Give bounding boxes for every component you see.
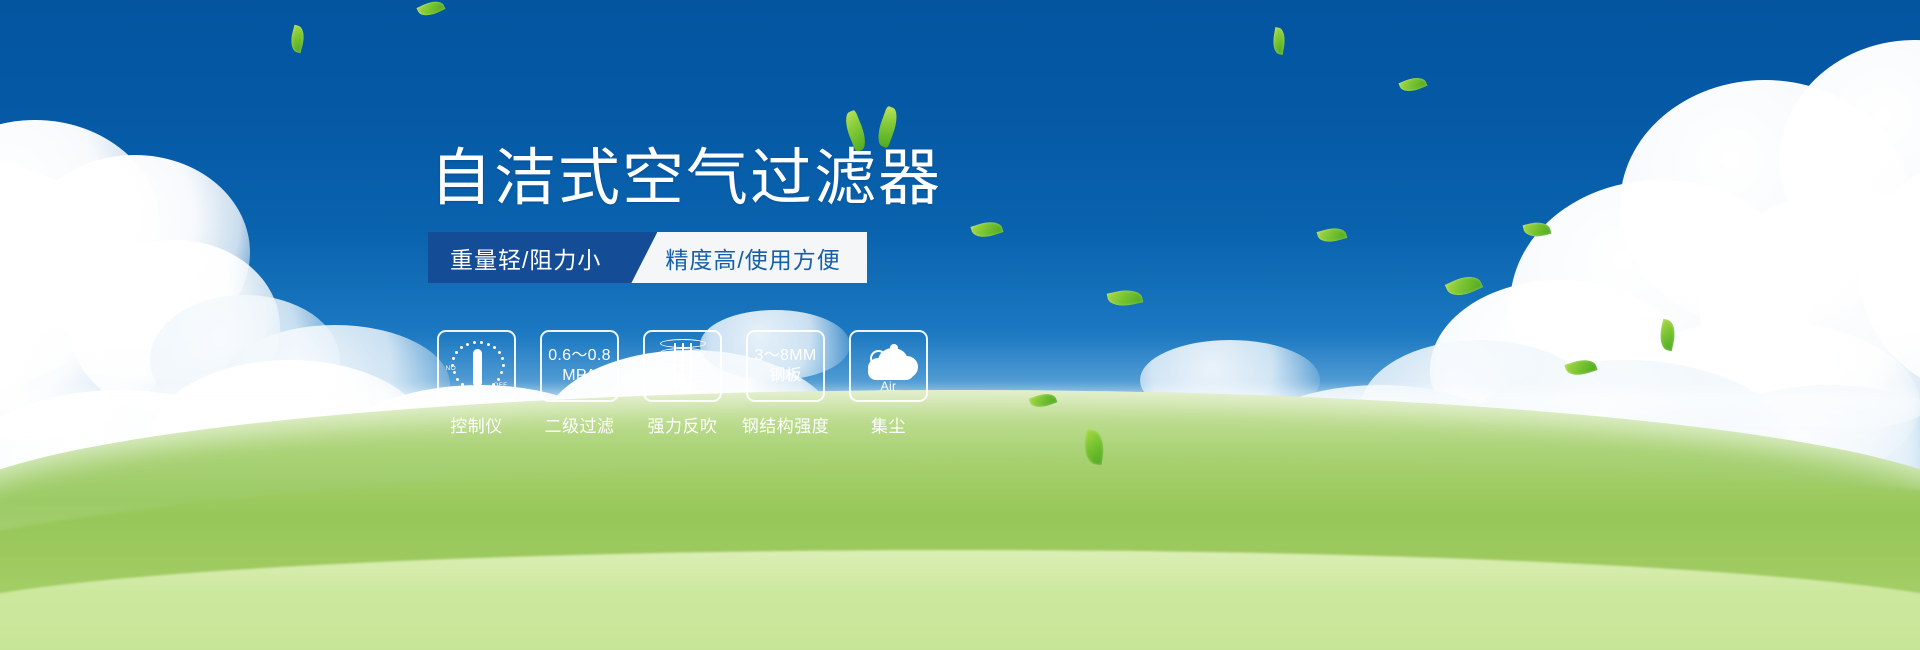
hero-banner: 自洁式空气过滤器 重量轻/阻力小 精度高/使用方便	[0, 0, 1920, 650]
feature-item-dust-collection[interactable]: Air 集尘	[849, 330, 928, 437]
banner-content: 自洁式空气过滤器 重量轻/阻力小 精度高/使用方便	[0, 0, 1920, 650]
tab-lightweight-lowresistance[interactable]: 重量轻/阻力小	[428, 232, 631, 283]
feature-caption: 钢结构强度	[742, 412, 830, 437]
air-cloud-icon: Air	[860, 340, 918, 392]
feature-item-strong-backblow[interactable]: 强力反吹	[643, 330, 722, 437]
feature-icon-box: NO OFF	[437, 330, 516, 402]
feature-caption: 二级过滤	[545, 412, 615, 437]
feature-icon-box	[643, 330, 722, 402]
pressure-text-icon: 0.6～0.8 MPA	[548, 346, 611, 385]
dial-label-off: OFF	[493, 382, 507, 389]
control-dial-icon: NO OFF	[446, 338, 508, 394]
dial-needle	[473, 349, 482, 387]
coil-spring-icon	[660, 339, 706, 393]
steel-plate-icon: 3～8MM 钢板	[755, 346, 817, 385]
page-title: 自洁式空气过滤器	[430, 148, 942, 210]
feature-caption: 控制仪	[450, 412, 503, 437]
feature-item-controller[interactable]: NO OFF 控制仪	[437, 330, 516, 437]
feature-list: NO OFF 控制仪 0.6～0.8 MPA 二级过滤	[437, 330, 928, 437]
feature-item-secondary-filter[interactable]: 0.6～0.8 MPA 二级过滤	[540, 330, 619, 437]
feature-icon-box: Air	[849, 330, 928, 402]
tab-precision-easyuse[interactable]: 精度高/使用方便	[657, 232, 866, 283]
feature-icon-box: 3～8MM 钢板	[746, 330, 825, 402]
feature-icon-box: 0.6～0.8 MPA	[540, 330, 619, 402]
feature-caption: 强力反吹	[648, 412, 718, 437]
air-label: Air	[860, 379, 918, 393]
dial-label-on: NO	[446, 365, 457, 372]
feature-caption: 集尘	[871, 412, 906, 437]
subtitle-tabs: 重量轻/阻力小 精度高/使用方便	[428, 232, 867, 283]
tab-divider-slant	[631, 232, 657, 283]
feature-item-steel-strength[interactable]: 3～8MM 钢板 钢结构强度	[746, 330, 825, 437]
